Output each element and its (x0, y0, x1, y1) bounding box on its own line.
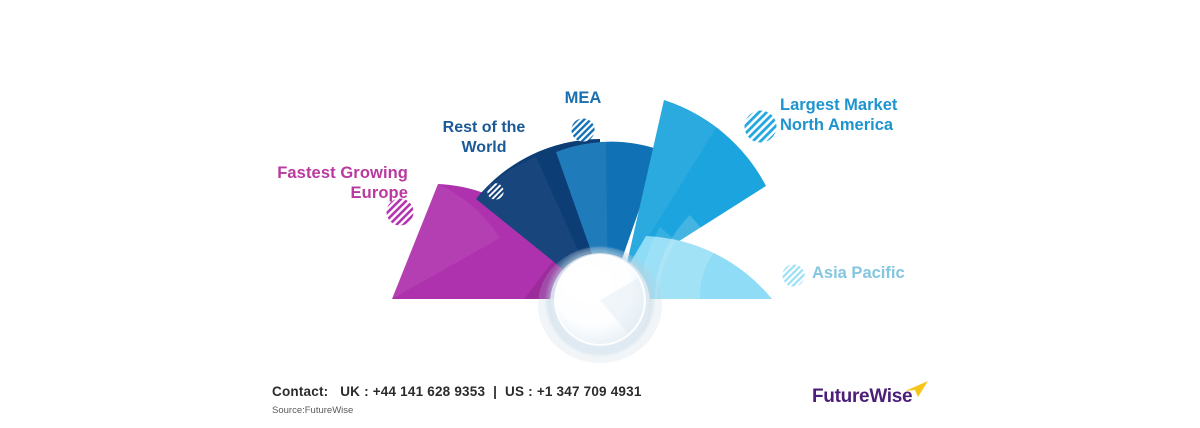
regional-share-chart: Fastest Growing Europe Rest of the World… (0, 0, 1200, 372)
futurewise-logo[interactable]: FutureWise (812, 380, 932, 420)
mea-marker-icon (571, 118, 595, 142)
logo-part1: Future (812, 386, 869, 407)
us-phone[interactable]: +1 347 709 4931 (537, 384, 642, 399)
label-north-america: Largest Market North America (780, 95, 980, 135)
contact-line: Contact: UK : +44 141 628 9353 | US : +1… (272, 384, 642, 399)
label-europe-line1: Fastest Growing (222, 163, 408, 183)
logo-wordmark: FutureWise (812, 386, 912, 408)
label-rest-of-world: Rest of the World (406, 118, 562, 157)
source-note: Source:FutureWise (272, 405, 353, 416)
label-mea: MEA (530, 88, 636, 108)
label-rest-of-world-line2: World (406, 138, 562, 158)
contact-separator: | (489, 384, 501, 399)
infographic-root: Fastest Growing Europe Rest of the World… (0, 0, 1200, 428)
label-europe: Fastest Growing Europe (222, 163, 408, 203)
uk-label: UK : (340, 384, 369, 399)
uk-phone[interactable]: +44 141 628 9353 (373, 384, 485, 399)
label-europe-line2: Europe (222, 183, 408, 203)
label-mea-line1: MEA (530, 88, 636, 108)
rest-of-world-marker-icon (487, 183, 504, 200)
footer: Contact: UK : +44 141 628 9353 | US : +1… (0, 372, 1200, 428)
contact-prefix: Contact: (272, 384, 328, 399)
north-america-marker-icon (744, 110, 777, 143)
europe-marker-icon (386, 198, 414, 226)
chart-canvas (0, 0, 1200, 372)
label-north-america-line2: North America (780, 115, 980, 135)
label-asia-pacific-line1: Asia Pacific (812, 263, 992, 283)
label-north-america-line1: Largest Market (780, 95, 980, 115)
asia-pacific-marker-icon (782, 264, 805, 287)
label-rest-of-world-line1: Rest of the (406, 118, 562, 138)
label-asia-pacific: Asia Pacific (812, 263, 992, 283)
logo-swoosh-icon (904, 380, 930, 398)
us-label: US : (505, 384, 533, 399)
